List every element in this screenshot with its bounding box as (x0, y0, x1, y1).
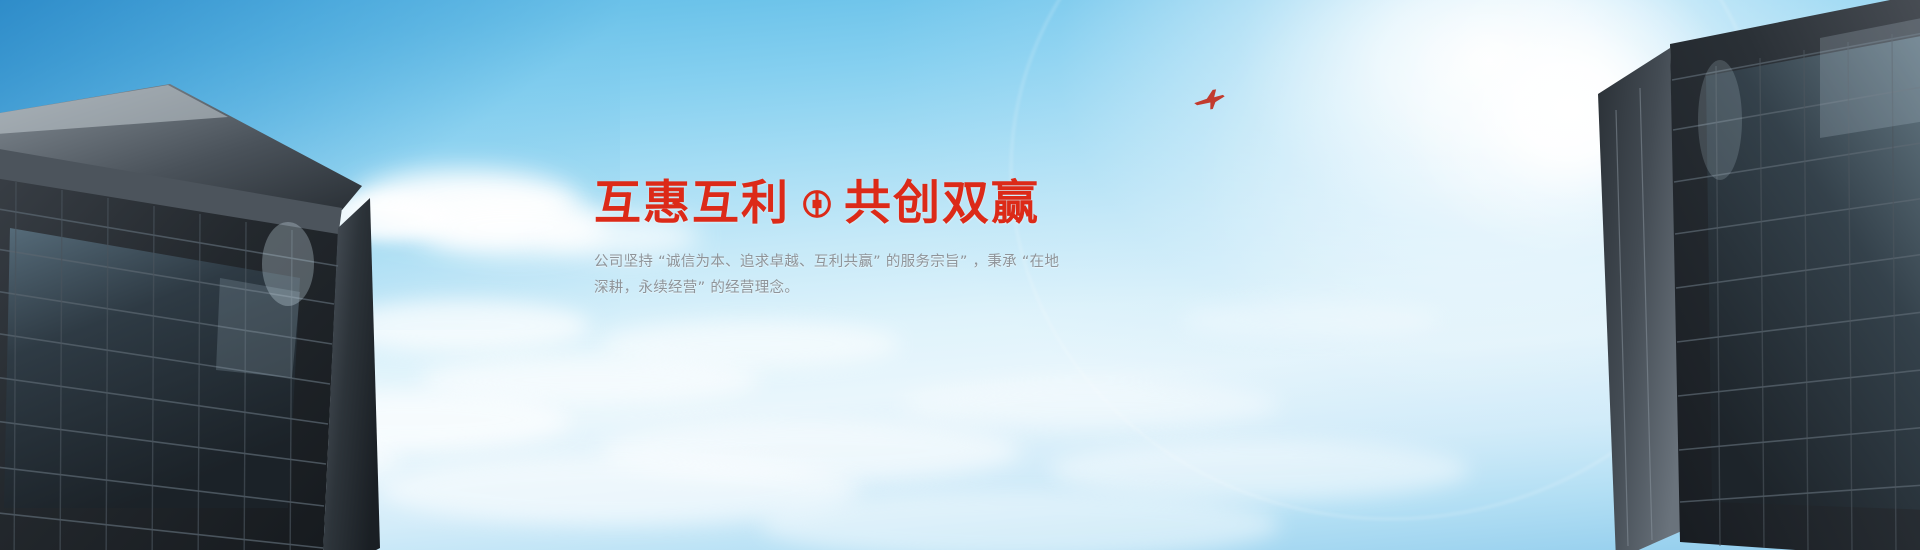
coin-emblem-icon (802, 189, 832, 219)
banner-headline: 互惠互利 共创双赢 (594, 178, 1114, 231)
glass-skyscraper-left (0, 78, 410, 550)
cloud (1180, 300, 1440, 340)
cloud (900, 380, 1280, 430)
banner-text-block: 互惠互利 共创双赢 公司坚持 “诚信为本、追求卓越、互利共赢” 的服务宗旨” ，… (594, 178, 1114, 302)
hero-banner: 互惠互利 共创双赢 公司坚持 “诚信为本、追求卓越、互利共赢” 的服务宗旨” ，… (0, 0, 1920, 550)
headline-left-text: 互惠互利 (594, 178, 790, 231)
headline-right-text: 共创双赢 (844, 178, 1040, 231)
cloud (1050, 440, 1470, 500)
banner-subtitle: 公司坚持 “诚信为本、追求卓越、互利共赢” 的服务宗旨” ，秉承 “在地深耕，永… (594, 249, 1074, 303)
airplane-icon (1190, 86, 1227, 114)
glass-skyscraper-right (1520, 0, 1920, 550)
